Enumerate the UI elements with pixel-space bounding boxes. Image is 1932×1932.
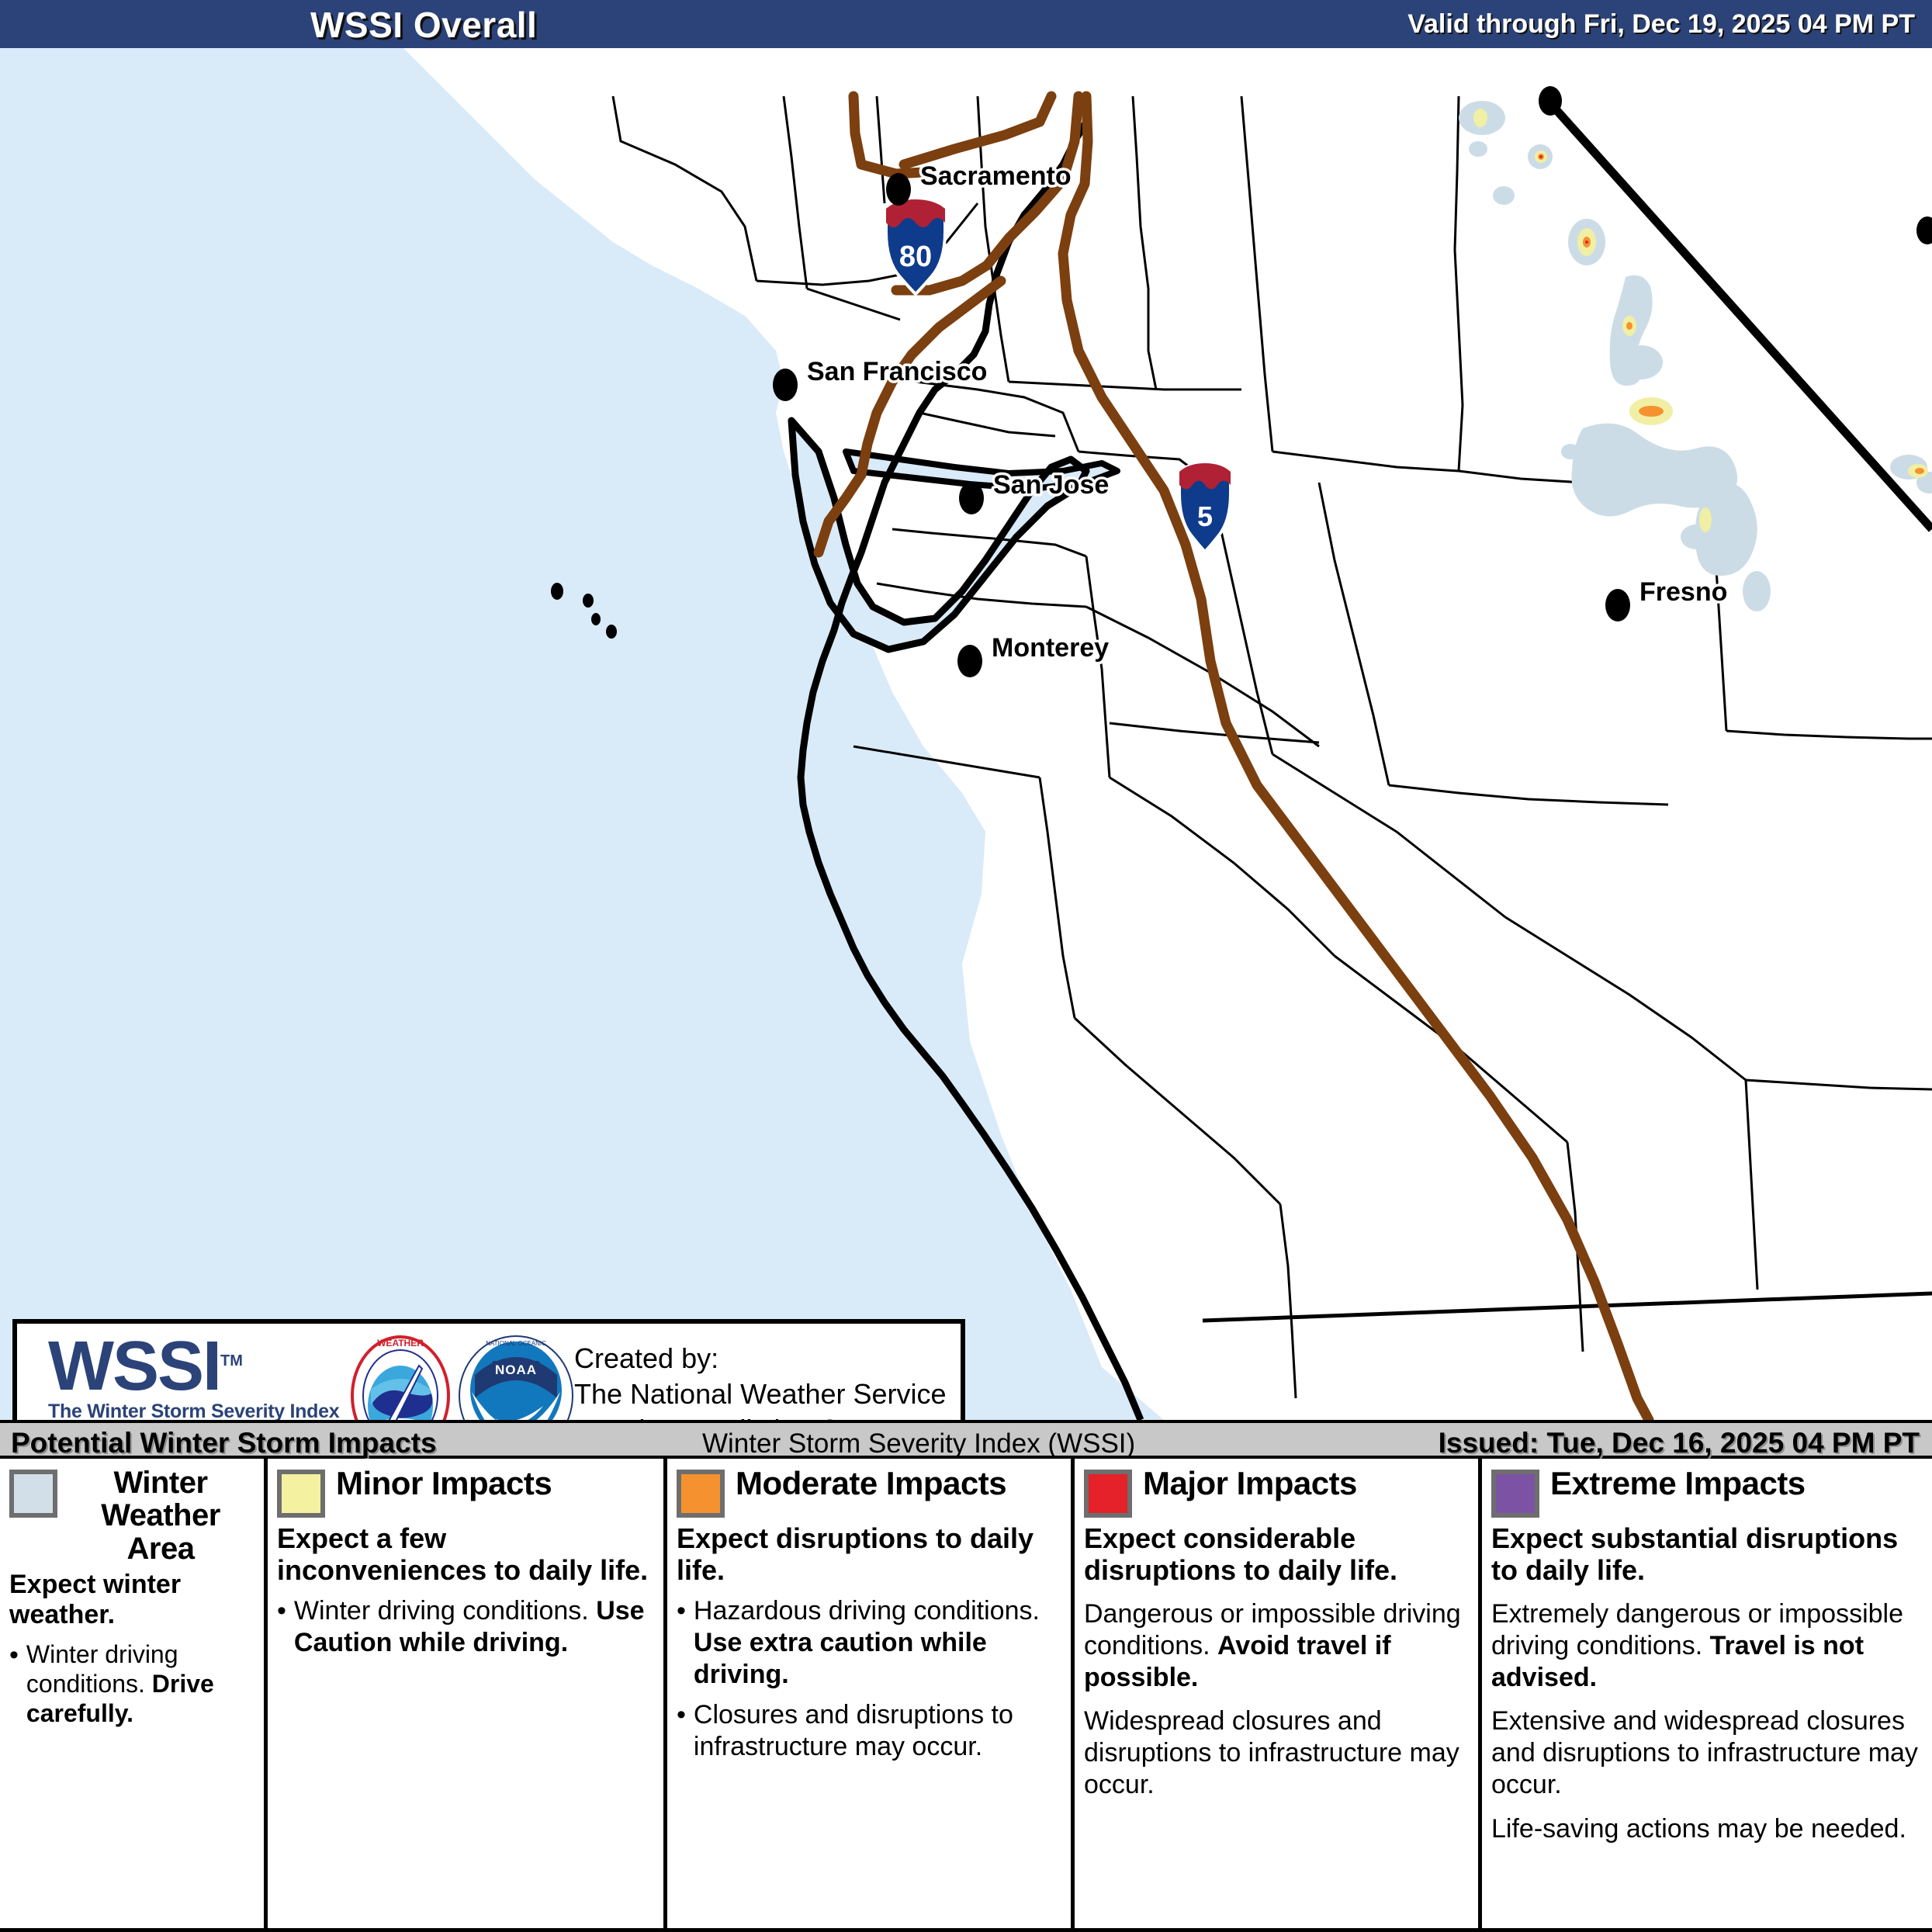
wssi-word: WSSITM <box>48 1335 343 1399</box>
city-dot <box>886 173 911 206</box>
legend-text-item: Dangerous or impossible driving conditio… <box>1084 1598 1469 1693</box>
wssi-tagline: The Winter Storm Severity Index <box>48 1401 343 1420</box>
bullet-dot: • <box>677 1595 686 1690</box>
legend-text-item: Life-saving actions may be needed. <box>1491 1813 1923 1845</box>
impacts-banner: Potential Winter Storm Impacts Winter St… <box>0 1420 1932 1459</box>
svg-text:NATIONAL OCEANIC: NATIONAL OCEANIC <box>486 1340 546 1347</box>
legend-category-name: Winter Weather Area <box>67 1466 254 1565</box>
legend-bullet-text: Hazardous driving conditions. Use extra … <box>694 1595 1061 1690</box>
legend-category-name: Minor Impacts <box>336 1466 552 1501</box>
city-dot <box>1605 589 1630 621</box>
bullet-dot: • <box>277 1595 286 1659</box>
legend-text-item: Extremely dangerous or impossible drivin… <box>1491 1598 1923 1693</box>
bullet-dot: • <box>677 1699 686 1763</box>
svg-text:5: 5 <box>1197 500 1213 532</box>
impact-legend: Winter Weather Area Expect winter weathe… <box>0 1459 1932 1932</box>
city-dot <box>1539 86 1562 116</box>
svg-text:WEATHER: WEATHER <box>377 1338 424 1349</box>
legend-swatch <box>277 1470 325 1518</box>
created-by-block: Created by: The National Weather Service… <box>574 1341 947 1420</box>
legend-intro: Expect disruptions to daily life. <box>677 1522 1061 1586</box>
issued-text: Issued: Tue, Dec 16, 2025 04 PM PT <box>1439 1427 1920 1459</box>
valid-through-text: Valid through Fri, Dec 19, 2025 04 PM PT <box>1407 9 1915 40</box>
city-dot <box>957 645 982 677</box>
legend-bullet-text: Closures and disruptions to infrastructu… <box>694 1699 1061 1763</box>
national-weather-service-seal: WEATHER ★ ★ ★ <box>351 1335 450 1420</box>
legend-column-minor-impacts[interactable]: Minor Impacts Expect a few inconvenience… <box>268 1459 667 1928</box>
city-label-san-jose: San Jose <box>993 470 1109 500</box>
island-farallon-1 <box>551 583 563 600</box>
wssi-trademark: TM <box>220 1352 243 1369</box>
legend-bullet-item: • Winter driving conditions. Drive caref… <box>9 1639 254 1729</box>
attribution-logo-box: WSSITM The Winter Storm Severity Index <box>12 1319 965 1420</box>
svg-text:NOAA: NOAA <box>495 1362 537 1377</box>
island-farallon-3 <box>591 613 601 625</box>
legend-intro: Expect winter weather. <box>9 1570 254 1630</box>
legend-bullet-item: • Closures and disruptions to infrastruc… <box>677 1699 1061 1763</box>
legend-text-item: Extensive and widespread closures and di… <box>1491 1705 1923 1800</box>
bullet-dot: • <box>9 1639 19 1729</box>
legend-bullet-item: • Hazardous driving conditions. Use extr… <box>677 1595 1061 1690</box>
banner-title: Potential Winter Storm Impacts <box>11 1427 437 1459</box>
legend-column-extreme-impacts[interactable]: Extreme Impacts Expect substantial disru… <box>1482 1459 1932 1928</box>
banner-subtitle: Winter Storm Severity Index (WSSI) <box>702 1428 1135 1459</box>
wssi-map-page: WSSI Overall Valid through Fri, Dec 19, … <box>0 0 1932 1932</box>
header-bar: WSSI Overall Valid through Fri, Dec 19, … <box>0 0 1932 48</box>
map-graphic: 80 5 Sacramento San Francisco San Jose F… <box>0 48 1932 1420</box>
legend-text-item: Widespread closures and disruptions to i… <box>1084 1705 1469 1800</box>
legend-bullet-item: • Winter driving conditions. Use Caution… <box>277 1595 654 1659</box>
legend-category-name: Major Impacts <box>1143 1466 1357 1501</box>
legend-intro: Expect a few inconveniences to daily lif… <box>277 1522 654 1586</box>
legend-bullet-text: Winter driving conditions. Drive careful… <box>26 1639 254 1729</box>
island-farallon-2 <box>583 594 594 608</box>
city-dot <box>959 482 984 514</box>
legend-column-moderate-impacts[interactable]: Moderate Impacts Expect disruptions to d… <box>667 1459 1075 1928</box>
city-label-monterey: Monterey <box>992 633 1109 663</box>
legend-category-name: Moderate Impacts <box>736 1466 1006 1501</box>
created-by-line-3: Weather Prediction Center <box>574 1412 947 1420</box>
legend-category-name: Extreme Impacts <box>1550 1466 1806 1501</box>
created-by-line-2: The National Weather Service <box>574 1376 947 1412</box>
map-canvas[interactable]: 80 5 Sacramento San Francisco San Jose F… <box>0 48 1932 1420</box>
svg-text:80: 80 <box>899 241 932 273</box>
legend-swatch <box>677 1470 725 1518</box>
legend-swatch <box>9 1470 57 1518</box>
city-label-fresno: Fresno <box>1639 577 1727 607</box>
city-label-sacramento: Sacramento <box>920 161 1072 191</box>
wssi-wordmark: WSSITM The Winter Storm Severity Index <box>48 1335 343 1420</box>
noaa-seal: NOAA NATIONAL OCEANIC U.S. DEPARTMENT OF… <box>458 1335 574 1420</box>
island-farallon-4 <box>606 625 617 639</box>
legend-swatch <box>1084 1470 1132 1518</box>
city-dot <box>773 369 798 401</box>
legend-bullet-text: Winter driving conditions. Use Caution w… <box>294 1595 654 1659</box>
city-label-san-francisco: San Francisco <box>807 357 987 386</box>
legend-swatch <box>1491 1470 1539 1518</box>
legend-intro: Expect substantial disruptions to daily … <box>1491 1522 1923 1586</box>
page-title: WSSI Overall <box>310 4 537 46</box>
legend-intro: Expect considerable disruptions to daily… <box>1084 1522 1469 1586</box>
legend-column-winter-weather-area[interactable]: Winter Weather Area Expect winter weathe… <box>0 1459 268 1928</box>
legend-column-major-impacts[interactable]: Major Impacts Expect considerable disrup… <box>1075 1459 1482 1928</box>
created-by-line-1: Created by: <box>574 1341 947 1376</box>
